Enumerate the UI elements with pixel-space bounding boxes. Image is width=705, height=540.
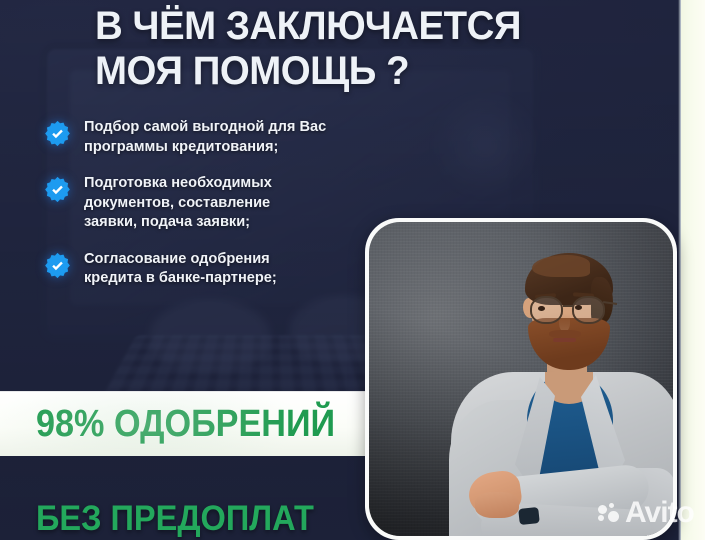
service-list: Подбор самой выгодной для Вас программы …: [44, 118, 374, 306]
list-item-line-1: Подбор самой выгодной для Вас: [84, 119, 326, 135]
avito-wordmark: Avito: [625, 498, 694, 528]
eye-right: [575, 305, 582, 310]
list-item-line-2: документов, составление: [84, 195, 270, 211]
list-item-line-1: Подготовка необходимых: [84, 175, 272, 191]
lens-right: [572, 296, 605, 324]
list-item-label: Подготовка необходимых документов, соста…: [84, 174, 272, 233]
list-item: Согласование одобрения кредита в банке-п…: [44, 250, 374, 289]
glasses-bridge: [563, 305, 574, 307]
list-item: Подбор самой выгодной для Вас программы …: [44, 118, 374, 157]
title-line-1: В ЧЁМ ЗАКЛЮЧАЕТСЯ: [95, 4, 521, 48]
avito-dots-icon: [598, 503, 620, 523]
hand-lower: [475, 492, 519, 518]
eye-left: [538, 306, 545, 311]
portrait-subject: [369, 222, 673, 536]
watch-strap: [518, 507, 540, 525]
mouth: [553, 338, 576, 342]
glasses-temple: [603, 301, 617, 305]
check-badge-icon: [44, 252, 71, 279]
portrait-photo-card: [365, 218, 677, 540]
check-badge-icon: [44, 120, 71, 147]
check-badge-icon: [44, 176, 71, 203]
no-prepayment-text: БЕЗ ПРЕДОПЛАТ: [36, 497, 314, 540]
page-title: В ЧЁМ ЗАКЛЮЧАЕТСЯ МОЯ ПОМОЩЬ ?: [95, 4, 594, 94]
approval-banner-text: 98% ОДОБРЕНИЙ: [36, 397, 335, 451]
list-item-line-3: заявки, подача заявки;: [84, 214, 250, 230]
list-item: Подготовка необходимых документов, соста…: [44, 174, 374, 233]
hair-fringe: [532, 255, 590, 277]
lens-left: [530, 296, 563, 324]
list-item-line-1: Согласование одобрения: [84, 251, 270, 267]
list-item-label: Согласование одобрения кредита в банке-п…: [84, 250, 277, 289]
right-edge-strip: [681, 0, 705, 540]
avito-watermark: Avito: [598, 498, 694, 528]
moustache: [549, 330, 581, 338]
list-item-line-2: программы кредитования;: [84, 139, 278, 155]
list-item-label: Подбор самой выгодной для Вас программы …: [84, 118, 326, 157]
portrait-photo: [369, 222, 673, 536]
list-item-line-2: кредита в банке-партнере;: [84, 270, 277, 286]
approval-banner: 98% ОДОБРЕНИЙ: [0, 392, 368, 456]
avito-ad-image: В ЧЁМ ЗАКЛЮЧАЕТСЯ МОЯ ПОМОЩЬ ? Подбор са…: [0, 0, 705, 540]
title-line-2: МОЯ ПОМОЩЬ ?: [95, 49, 594, 94]
